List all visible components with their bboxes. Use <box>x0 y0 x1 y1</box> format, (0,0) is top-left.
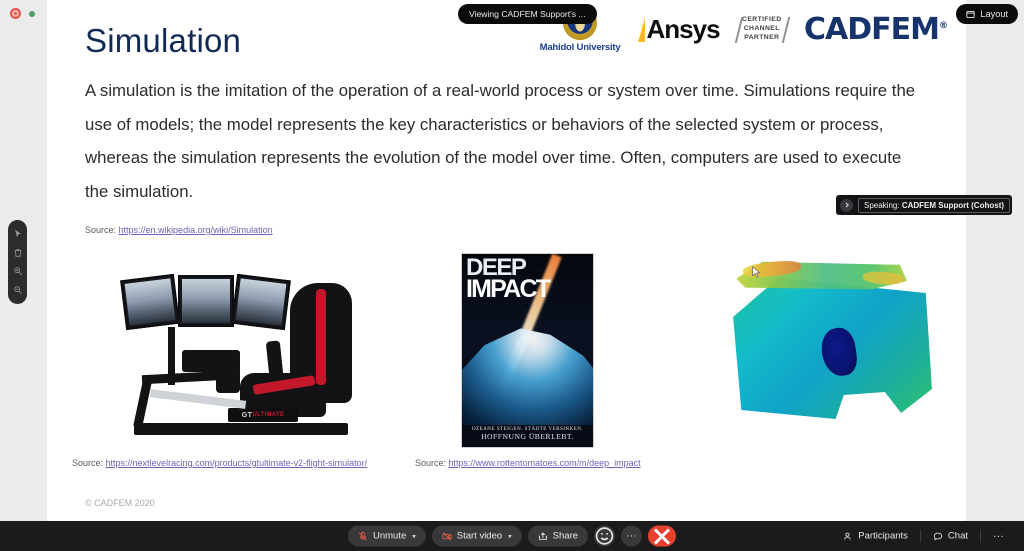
share-button-label: Share <box>553 531 578 542</box>
source-simulator: Source: https://nextlevelracing.com/prod… <box>72 458 367 468</box>
figures-row: GT ULTIMATE DEEP IMPACT OZEANE STEIGEN. … <box>47 250 966 455</box>
video-chevron-down-icon[interactable]: ▾ <box>508 532 512 540</box>
copyright-notice: © CADFEM 2020 <box>85 498 155 508</box>
expand-panel-button[interactable] <box>840 199 853 212</box>
ccp-line-3: PARTNER <box>744 34 779 41</box>
microphone-muted-icon <box>358 531 368 541</box>
rig-monitor-center <box>178 275 234 327</box>
annotation-toolbar[interactable] <box>8 220 27 304</box>
rig-monitor-left <box>120 274 180 330</box>
toolbar-divider <box>920 530 921 543</box>
status-indicator-icon <box>29 11 35 17</box>
source-movie: Source: https://www.rottentomatoes.com/m… <box>415 458 641 468</box>
zoom-out-tool-icon[interactable] <box>12 284 24 296</box>
emoji-smiley-icon <box>594 526 615 547</box>
certified-channel-partner-badge: CERTIFIED CHANNEL PARTNER <box>738 16 786 42</box>
ansys-logo: Ansys <box>638 14 719 45</box>
meeting-toolbar: Unmute ▾ Start video ▾ Share ··· <box>0 521 1024 551</box>
share-screen-icon <box>538 531 548 541</box>
source-movie-link[interactable]: https://www.rottentomatoes.com/m/deep_im… <box>449 458 641 468</box>
start-video-button-label: Start video <box>457 531 502 542</box>
speech-bubble-icon <box>933 531 943 541</box>
ansys-slash-icon <box>638 18 645 42</box>
cadfem-registered-mark: ® <box>939 21 948 31</box>
layout-button-label: Layout <box>980 9 1008 19</box>
poster-tagline-line-2: HOFFNUNG ÜBERLEBT. <box>462 432 593 441</box>
ccp-slash-right-icon <box>781 17 789 43</box>
record-indicator-icon[interactable] <box>10 8 21 19</box>
participants-button-label: Participants <box>858 531 908 542</box>
ccp-line-1: CERTIFIED <box>742 16 781 23</box>
more-options-button[interactable]: ··· <box>621 526 642 547</box>
shared-slide: Simulation Mahidol University Ansys CERT… <box>47 0 966 521</box>
source-simulator-link[interactable]: https://nextlevelracing.com/products/gtu… <box>106 458 368 468</box>
toolbar-right-group: Participants Chat ··· <box>833 526 1014 547</box>
figure-simulator-rig: GT ULTIMATE <box>120 255 368 450</box>
end-call-button[interactable] <box>648 526 676 547</box>
rig-monitor-right <box>231 274 291 330</box>
source-label: Source: <box>72 458 106 468</box>
toolbar-divider <box>980 530 981 543</box>
more-horizontal-icon: ··· <box>627 531 637 542</box>
slide-body-text: A simulation is the imitation of the ope… <box>85 74 925 208</box>
end-call-icon <box>648 522 676 550</box>
reactions-button[interactable] <box>594 526 615 547</box>
more-horizontal-icon: ··· <box>993 530 1004 542</box>
speaking-name-box: Speaking: CADFEM Support (Cohost) <box>858 198 1010 213</box>
mahidol-logo-label: Mahidol University <box>540 42 621 53</box>
chat-button-label: Chat <box>948 531 968 542</box>
layout-button[interactable]: Layout <box>956 4 1018 24</box>
figure-movie-poster: DEEP IMPACT OZEANE STEIGEN. STÄDTE VERSI… <box>461 253 594 448</box>
zoom-in-tool-icon[interactable] <box>12 265 24 277</box>
speaking-indicator[interactable]: Speaking: CADFEM Support (Cohost) <box>836 195 1012 215</box>
layout-grid-icon <box>966 10 975 19</box>
logo-row: Mahidol University Ansys CERTIFIED CHANN… <box>540 6 948 53</box>
person-icon <box>843 531 853 541</box>
ccp-line-2: CHANNEL <box>744 25 780 32</box>
window-controls <box>10 8 35 19</box>
figure-fea-engine-block <box>707 250 957 450</box>
poster-title: DEEP IMPACT <box>466 258 591 300</box>
chat-button[interactable]: Chat <box>923 526 978 547</box>
source-label: Source: <box>415 458 449 468</box>
cadfem-logo-label: CADFEM <box>804 12 939 47</box>
cadfem-logo: CADFEM® <box>804 12 948 47</box>
source-label: Source: <box>85 225 119 235</box>
viewing-status-pill: Viewing CADFEM Support's ... <box>458 4 597 24</box>
poster-tagline: OZEANE STEIGEN. STÄDTE VERSINKEN. HOFFNU… <box>462 426 593 441</box>
share-button[interactable]: Share <box>528 526 588 547</box>
chevron-right-icon <box>844 202 850 208</box>
simulator-rig-drawing: GT ULTIMATE <box>120 255 368 450</box>
ansys-logo-label: Ansys <box>646 14 719 45</box>
source-wikipedia-link[interactable]: https://en.wikipedia.org/wiki/Simulation <box>119 225 273 235</box>
unmute-chevron-down-icon[interactable]: ▾ <box>412 532 416 540</box>
right-more-button[interactable]: ··· <box>983 526 1014 547</box>
participants-button[interactable]: Participants <box>833 526 918 547</box>
poster-title-line-2: IMPACT <box>466 278 591 300</box>
page-title: Simulation <box>85 22 241 60</box>
unmute-button[interactable]: Unmute ▾ <box>348 526 426 547</box>
trash-tool-icon[interactable] <box>12 247 24 259</box>
source-wikipedia: Source: https://en.wikipedia.org/wiki/Si… <box>85 225 273 235</box>
camera-muted-icon <box>442 531 452 541</box>
poster-ocean-impact <box>461 320 594 425</box>
unmute-button-label: Unmute <box>373 531 406 542</box>
pointer-tool-icon[interactable] <box>12 228 24 240</box>
start-video-button[interactable]: Start video ▾ <box>432 526 522 547</box>
speaking-text: Speaking: CADFEM Support (Cohost) <box>864 201 1004 210</box>
mouse-cursor-icon <box>752 266 761 278</box>
toolbar-center-group: Unmute ▾ Start video ▾ Share ··· <box>348 526 676 547</box>
ccp-text: CERTIFIED CHANNEL PARTNER <box>742 16 781 42</box>
speaking-prefix: Speaking: <box>864 201 902 210</box>
speaking-name: CADFEM Support (Cohost) <box>902 201 1004 210</box>
